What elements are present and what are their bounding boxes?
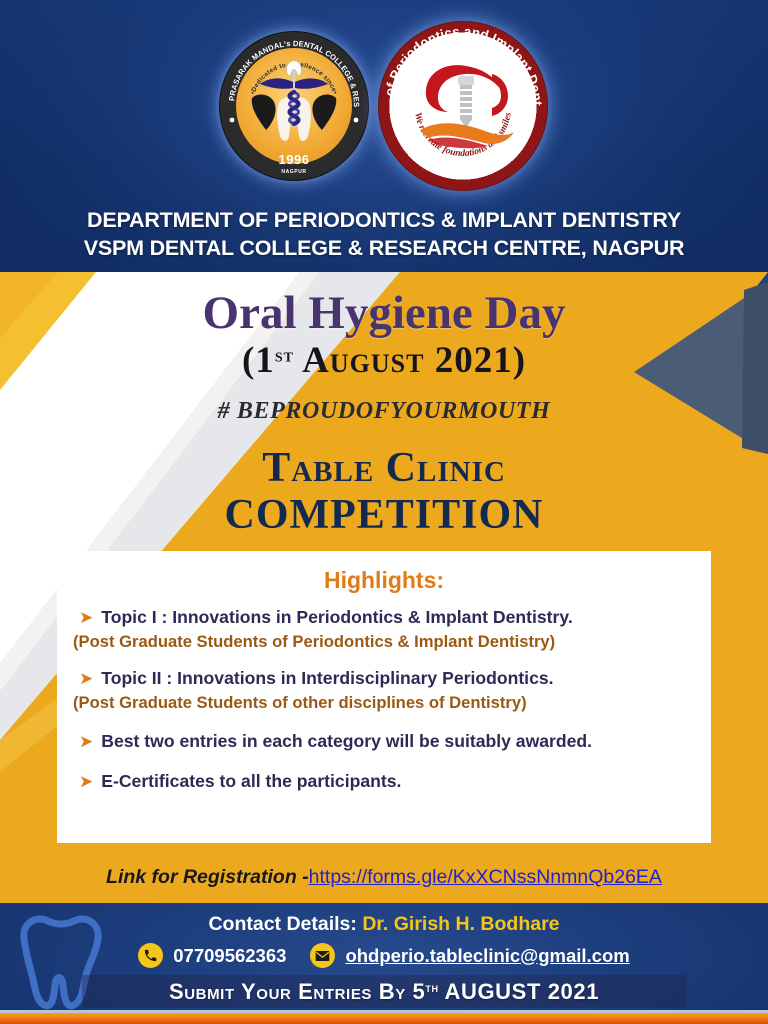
arrow-bullet-icon: ➤ — [79, 607, 93, 628]
submit-suffix: AUGUST 2021 — [439, 979, 599, 1004]
submit-prefix: Submit Your Entries By 5 — [169, 979, 425, 1004]
arrow-bullet-icon: ➤ — [79, 731, 93, 752]
vspm-logo-year: 1996 — [220, 152, 368, 167]
contact-person-name: Dr. Girish H. Bodhare — [362, 913, 559, 935]
highlight-main-text: Best two entries in each category will b… — [101, 730, 592, 753]
contact-line: Contact Details: Dr. Girish H. Bodhare — [0, 913, 768, 936]
poster-date: (1st August 2021) — [0, 339, 768, 382]
contact-phone[interactable]: 07709562363 — [173, 945, 286, 967]
competition-title-line-1: Table Clinic — [0, 444, 768, 492]
submit-ordinal-suffix: th — [425, 981, 438, 995]
dept-line-2: VSPM DENTAL COLLEGE & RESEARCH CENTRE, N… — [0, 234, 768, 262]
date-prefix: (1 — [242, 340, 275, 381]
competition-title-line-2: COMPETITION — [0, 491, 768, 539]
perio-logo-emblem — [404, 56, 522, 156]
registration-link[interactable]: https://forms.gle/KxXCNssNnmnQb26EA — [309, 866, 662, 888]
highlight-item-topic-2: ➤ Topic II : Innovations in Interdiscipl… — [71, 667, 697, 690]
bottom-orange-strip — [0, 1013, 768, 1024]
registration-label: Link for Registration - — [106, 866, 309, 888]
highlight-main-text: E-Certificates to all the participants. — [101, 770, 401, 793]
department-heading: DEPARTMENT OF PERIODONTICS & IMPLANT DEN… — [0, 206, 768, 263]
arrow-bullet-icon: ➤ — [79, 668, 93, 689]
poster-root: VIDYA SHIKSHAN PRASARAK MANDAL's DENTAL … — [0, 0, 768, 1024]
highlights-box: Highlights: ➤ Topic I : Innovations in P… — [57, 551, 711, 843]
dept-periodontics-logo: Dept. of Periodontics and Implant Dentis… — [373, 16, 553, 196]
date-ordinal-suffix: st — [275, 345, 294, 367]
submit-deadline-text: Submit Your Entries By 5th AUGUST 2021 — [169, 979, 599, 1005]
vspm-logo-inner: •Dedicated to excellence since• — [236, 48, 352, 164]
phone-icon — [138, 943, 163, 968]
phone-glyph — [143, 948, 158, 963]
contact-email[interactable]: ohdperio.tableclinic@gmail.com — [345, 945, 629, 967]
date-suffix: August 2021) — [294, 340, 526, 381]
highlight-main-text: Topic I : Innovations in Periodontics & … — [101, 606, 572, 629]
envelope-glyph — [315, 950, 330, 962]
email-icon — [310, 943, 335, 968]
vspm-logo-ring: VIDYA SHIKSHAN PRASARAK MANDAL's DENTAL … — [219, 31, 369, 181]
highlight-sub-text-topic-2: (Post Graduate Students of other discipl… — [71, 692, 697, 714]
contact-details-row: 07709562363 ohdperio.tableclinic@gmail.c… — [0, 943, 768, 968]
vspm-logo-city: NAGPUR — [220, 169, 368, 175]
poster-hashtag: # BEPROUDOFYOURMOUTH — [0, 398, 768, 425]
poster-title: Oral Hygiene Day — [0, 286, 768, 340]
contact-label: Contact Details: — [208, 913, 362, 935]
highlight-sub-text-topic-1: (Post Graduate Students of Periodontics … — [71, 631, 697, 653]
registration-line: Link for Registration -https://forms.gle… — [0, 866, 768, 889]
highlight-item-topic-1: ➤ Topic I : Innovations in Periodontics … — [71, 606, 697, 629]
highlights-heading: Highlights: — [71, 567, 697, 594]
perio-logo-ring: Dept. of Periodontics and Implant Dentis… — [378, 21, 548, 191]
submit-deadline-banner: Submit Your Entries By 5th AUGUST 2021 — [82, 975, 686, 1008]
vspm-logo-emblem: •Dedicated to excellence since• — [236, 48, 352, 164]
highlight-item-awards: ➤ Best two entries in each category will… — [71, 730, 697, 753]
highlight-item-certificates: ➤ E-Certificates to all the participants… — [71, 770, 697, 793]
arrow-bullet-icon: ➤ — [79, 771, 93, 792]
dept-line-1: DEPARTMENT OF PERIODONTICS & IMPLANT DEN… — [0, 206, 768, 234]
vspm-dental-college-logo: VIDYA SHIKSHAN PRASARAK MANDAL's DENTAL … — [215, 27, 373, 185]
logo-row: VIDYA SHIKSHAN PRASARAK MANDAL's DENTAL … — [0, 18, 768, 193]
highlight-main-text: Topic II : Innovations in Interdisciplin… — [101, 667, 553, 690]
